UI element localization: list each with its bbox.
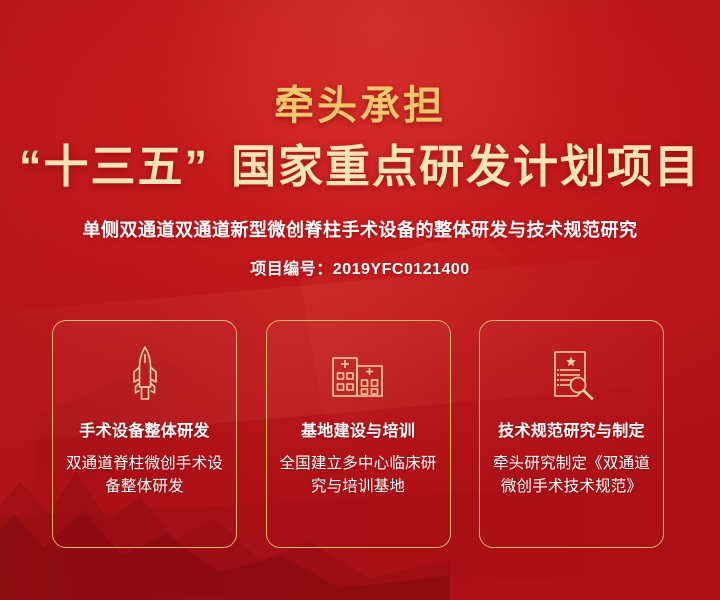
title-line-2: “十三五”国家重点研发计划项目 bbox=[0, 142, 720, 192]
feature-card-body: 牵头研究制定《双通道微创手术技术规范》 bbox=[488, 452, 656, 499]
feature-card-body: 全国建立多中心临床研究与培训基地 bbox=[274, 452, 442, 499]
feature-card-list: 手术设备整体研发 双通道脊柱微创手术设备整体研发 bbox=[52, 320, 664, 548]
feature-card-tech-standard[interactable]: 技术规范研究与制定 牵头研究制定《双通道微创手术技术规范》 bbox=[479, 320, 664, 548]
feature-card-title: 手术设备整体研发 bbox=[79, 417, 209, 441]
feature-card-equipment-rd[interactable]: 手术设备整体研发 双通道脊柱微创手术设备整体研发 bbox=[52, 320, 237, 548]
project-number: 项目编号：2019YFC0121400 bbox=[0, 255, 720, 279]
hospital-building-icon bbox=[330, 343, 386, 405]
document-magnifier-icon bbox=[547, 343, 597, 405]
feature-card-title: 技术规范研究与制定 bbox=[498, 417, 645, 441]
title-main-term: 国家重点研发计划项目 bbox=[231, 141, 701, 192]
title-quoted-term: “十三五” bbox=[19, 141, 209, 192]
subtitle: 单侧双通道双通道新型微创脊柱手术设备的整体研发与技术规范研究 bbox=[0, 216, 720, 242]
promo-banner: 牵头承担 “十三五”国家重点研发计划项目 单侧双通道双通道新型微创脊柱手术设备的… bbox=[0, 0, 720, 600]
feature-card-body: 双通道脊柱微创手术设备整体研发 bbox=[61, 452, 229, 499]
headline-block: 牵头承担 “十三五”国家重点研发计划项目 bbox=[0, 0, 720, 192]
title-line-1: 牵头承担 bbox=[0, 84, 720, 128]
feature-card-title: 基地建设与培训 bbox=[301, 417, 415, 441]
rocket-icon bbox=[125, 343, 165, 405]
feature-card-base-training[interactable]: 基地建设与培训 全国建立多中心临床研究与培训基地 bbox=[266, 320, 451, 548]
